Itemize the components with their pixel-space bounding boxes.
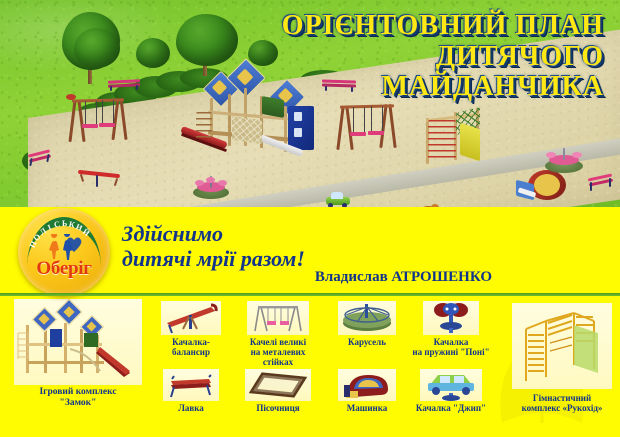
legend-item-spring-rocker-pony[interactable]: Качалка на пружині "Поні" — [398, 301, 504, 357]
legend-label: Качелі великі на металевих стійках — [232, 337, 324, 367]
legend-label: Пісочниця — [232, 403, 324, 413]
carousel-icon — [338, 301, 396, 335]
carousel — [193, 176, 229, 200]
tree-crown — [136, 38, 170, 68]
tree-crown — [74, 28, 120, 68]
carousel — [545, 148, 583, 174]
title-line-2: ДИТЯЧОГО — [282, 43, 604, 72]
slogan-line-1: Здійснимо — [122, 221, 305, 246]
seesaw-icon — [161, 301, 221, 335]
slogan-text: Здійснимо дитячі мрії разом! — [122, 221, 305, 271]
legend-label: Качалка- балансир — [155, 337, 227, 357]
legend-row-2: Ігровий комплекс "Замок" Лавка — [0, 369, 620, 435]
bench — [28, 152, 52, 168]
legend-label: Качалка "Джип" — [398, 403, 504, 413]
legend-item-large-swings[interactable]: Качелі великі на металевих стійках — [232, 301, 324, 367]
slogan-banner: П О Л І С Ь К И Й Оберіг — [0, 207, 620, 296]
seesaw — [78, 168, 122, 190]
legend-label: Гімнастичний комплекс «Рукохід» — [506, 393, 618, 413]
toy-car — [326, 192, 350, 208]
title-line-1: ОРІЄНТОВНИЙ ПЛАН — [282, 12, 604, 41]
legend-label: Лавка — [155, 403, 227, 413]
legend-item-sandbox[interactable]: Пісочниця — [232, 369, 324, 413]
legend-item-carousel[interactable]: Карусель — [330, 301, 404, 347]
tree-crown — [176, 14, 238, 66]
logo-wordmark: Оберіг — [18, 258, 110, 280]
legend-item-bench[interactable]: Лавка — [155, 369, 227, 413]
large-swings-icon — [247, 301, 309, 335]
spring-rocker-pony-icon — [423, 301, 479, 335]
swing-set — [68, 92, 126, 142]
parent-child-heart-icon — [46, 234, 84, 260]
legend-item-gym-complex[interactable]: Гімнастичний комплекс «Рукохід» — [506, 303, 618, 413]
legend-item-seesaw[interactable]: Качалка- балансир — [155, 301, 227, 357]
bench-icon — [163, 369, 219, 401]
author-name: Владислав АТРОШЕНКО — [122, 269, 492, 286]
title-line-3: МАЙДАНЧИКА — [282, 73, 604, 102]
legend-item-toy-car[interactable]: Машинка — [330, 369, 404, 413]
legend-label: Ігровий комплекс "Замок" — [8, 387, 148, 408]
spring-rocker-jeep-icon — [420, 369, 482, 401]
legend-item-play-complex-label[interactable]: Ігровий комплекс "Замок" — [8, 385, 148, 408]
poster-root: ОРІЄНТОВНИЙ ПЛАН ДИТЯЧОГО МАЙДАНЧИКА П О… — [0, 0, 620, 437]
gym-complex-icon — [512, 303, 612, 389]
page-title: ОРІЄНТОВНИЙ ПЛАН ДИТЯЧОГО МАЙДАНЧИКА — [282, 12, 604, 102]
toy-car-icon — [338, 369, 396, 401]
legend-label: Машинка — [330, 403, 404, 413]
bench — [588, 176, 614, 194]
section-divider — [0, 293, 620, 296]
legend-label: Карусель — [330, 337, 404, 347]
bench — [108, 80, 140, 90]
slogan-line-2: дитячі мрії разом! — [122, 246, 305, 271]
swing-set — [336, 98, 396, 150]
sandbox-icon — [245, 369, 311, 401]
legend-item-spring-rocker-jeep[interactable]: Качалка "Джип" — [398, 369, 504, 413]
legend-panel: Качалка- балансир — [0, 297, 620, 437]
gym-complex-frame — [420, 102, 494, 168]
slide — [258, 136, 304, 164]
legend-label: Качалка на пружині "Поні" — [398, 337, 504, 357]
brand-logo[interactable]: П О Л І С Ь К И Й Оберіг — [18, 208, 110, 296]
